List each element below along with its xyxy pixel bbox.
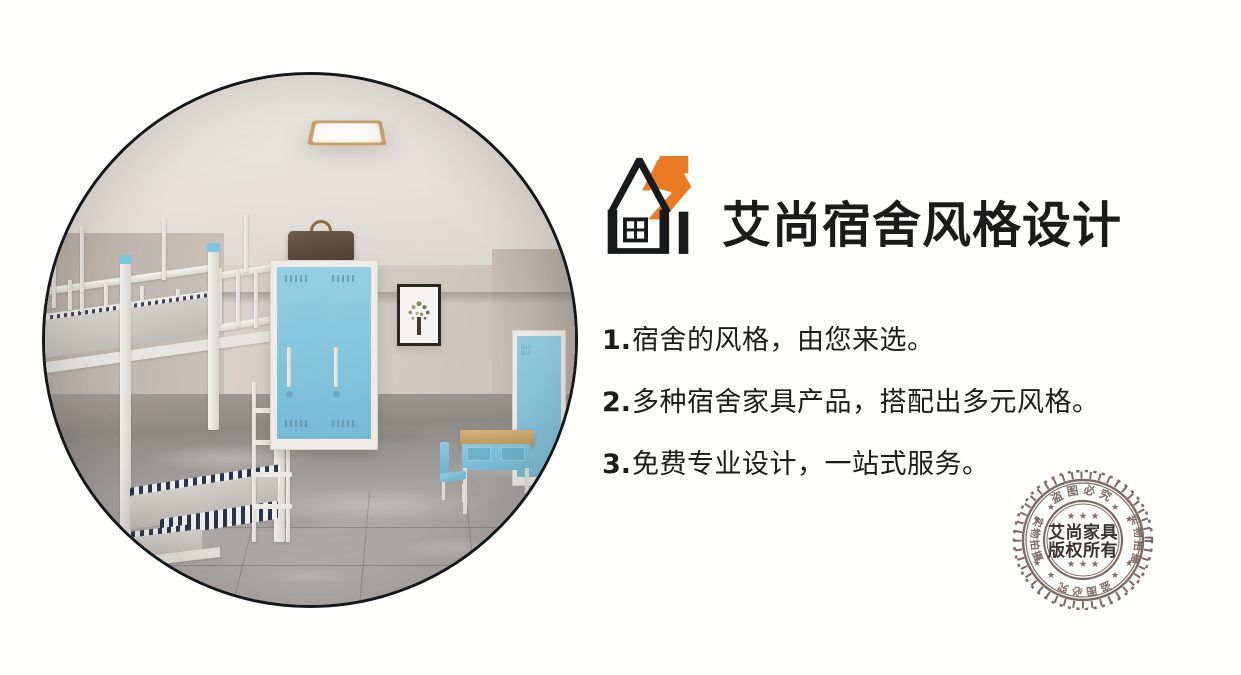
desk-drawer[interactable] [467,447,491,461]
lamp-glow [312,123,382,142]
locker-lock-icon [333,391,340,398]
desk-leg [525,468,529,514]
ladder-step [252,472,292,477]
bed-upright [162,218,166,280]
copyright-watermark-stamp: 盗图必究 实物拍摄 实物拍摄 盗图必究 ★ ★ ★ ★ ★ ★ ★ ★ [1011,468,1155,612]
list-item-text: 免费专业设计，一站式服务。 [632,442,990,481]
locker-handle[interactable] [334,347,338,387]
svg-text:★: ★ [1111,571,1119,581]
stair-baluster [236,270,240,326]
bed-baluster [68,280,72,310]
bed-post-blue-cap [207,243,220,252]
second-locker-door-right[interactable] [539,336,561,477]
square-ceiling-light [307,121,387,146]
second-desk-top [562,444,578,456]
tile-seam [117,565,578,566]
svg-text:★: ★ [1125,515,1133,525]
dormitory-photo-circle: SU SU [42,72,578,608]
svg-text:★: ★ [1111,503,1119,513]
stamp-center-line2: 版权所有 [1048,540,1118,561]
svg-text:★: ★ [1047,571,1055,581]
list-item: 2. 多种宿舍家具产品，搭配出多元风格。 [602,380,1222,419]
ladder-step [252,504,292,509]
bed-upright [244,214,248,272]
list-item-text: 多种宿舍家具产品，搭配出多元风格。 [632,380,1100,419]
framed-tree-artwork [397,284,441,346]
locker-vent-slots [285,420,307,427]
bed-upright [80,226,84,312]
ladder-rail [252,382,256,542]
list-item: 1. 宿舍的风格，由您来选。 [602,318,1222,357]
stamp-center-line1: 艾尚家具 [1048,522,1118,543]
svg-text:★: ★ [1091,511,1100,522]
bed-post-blue-cap [119,255,132,264]
svg-text:★: ★ [1067,511,1076,522]
bunk-bed [42,232,302,562]
chair-leg [556,500,559,518]
locker-handle[interactable] [287,347,291,387]
brand-header: 艾尚宿舍风格设计 [600,152,1122,256]
locker-door-left[interactable] [277,267,324,439]
svg-text:★: ★ [1033,515,1041,525]
locker-vent-slots [332,275,354,282]
bed-post [208,250,219,430]
house-roof-logo-icon [600,152,696,256]
chair-leg [462,484,465,502]
blue-locker [270,260,378,450]
locker-vent-slots [332,420,354,427]
svg-text:★: ★ [1125,559,1133,569]
room-scene: SU SU [42,72,578,608]
stair-baluster [254,272,258,328]
svg-text:★: ★ [1047,503,1055,513]
chair-back [440,442,449,474]
desk-drawer[interactable] [501,447,525,461]
chair-leg [442,482,445,500]
list-item-text: 宿舍的风格，由您来选。 [632,318,935,357]
leather-bag [288,231,354,261]
list-item-number: 1. [602,325,632,356]
svg-text:★: ★ [1079,511,1088,522]
study-desk-body [462,444,530,470]
page-title: 艾尚宿舍风格设计 [722,201,1122,250]
list-item-number: 2. [602,387,632,418]
locker-lock-icon [286,391,293,398]
promo-banner: SU SU [0,0,1241,675]
locker-door-right[interactable] [324,267,371,439]
svg-text:★: ★ [1033,559,1041,569]
blue-chair [554,460,578,508]
list-item-number: 3. [602,449,632,480]
locker-vent-slots [285,275,307,282]
chair-back [554,460,563,492]
chair-leg [576,502,578,520]
second-locker-label: SU SU [521,345,539,357]
bed-upright [52,222,56,308]
blue-chair [440,442,466,490]
tree-trunk [417,317,421,335]
